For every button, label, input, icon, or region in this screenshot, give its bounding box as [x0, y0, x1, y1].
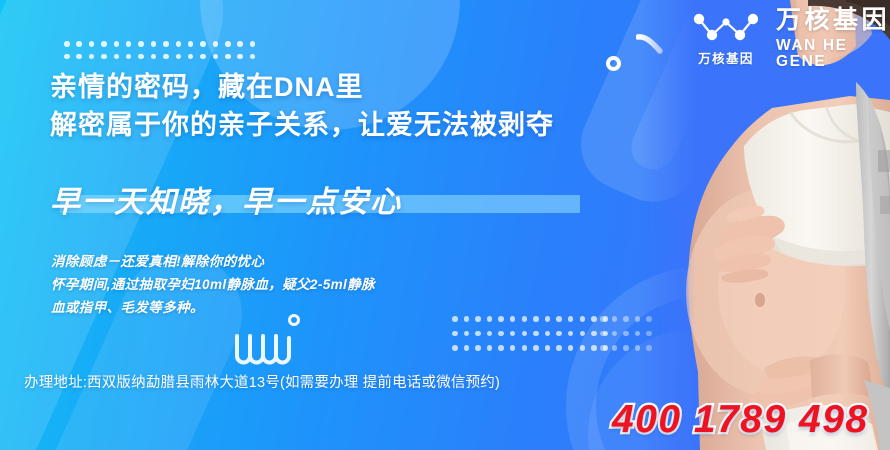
dot — [138, 41, 144, 47]
dot — [623, 316, 629, 322]
dot — [487, 331, 493, 337]
dot — [568, 331, 574, 337]
dot — [188, 41, 194, 47]
dot — [64, 41, 70, 47]
subheadline-text: 早一天知晓，早一点安心 — [50, 183, 590, 222]
dot — [556, 345, 562, 351]
dot — [533, 345, 539, 351]
body-copy: 消除顾虑－还爱真相!解除你的忧心 怀孕期间,通过抽取孕妇10ml静脉血，疑父2-… — [51, 250, 375, 320]
dot — [475, 345, 481, 351]
dot — [533, 316, 539, 322]
dot — [151, 41, 157, 47]
dot — [225, 54, 231, 60]
dot — [176, 54, 182, 60]
dot — [464, 316, 470, 322]
dot — [225, 41, 231, 47]
dot — [101, 54, 107, 60]
dot — [603, 345, 609, 351]
dot — [568, 345, 574, 351]
dot — [510, 316, 516, 322]
dot — [250, 41, 256, 47]
body-line-1: 消除顾虑－还爱真相!解除你的忧心 — [51, 250, 375, 273]
dot — [498, 345, 504, 351]
dot — [522, 331, 528, 337]
dot — [522, 345, 528, 351]
dot — [237, 41, 243, 47]
dot — [600, 316, 606, 322]
dot — [522, 316, 528, 322]
dot — [200, 54, 206, 60]
dot — [464, 331, 470, 337]
dot — [64, 54, 70, 60]
logo-name-en: WAN HE GENE — [776, 38, 890, 69]
dot — [237, 54, 243, 60]
dot — [545, 331, 551, 337]
body-line-2: 怀孕期间,通过抽取孕妇10ml静脉血，疑父2-5ml静脉 — [51, 273, 375, 296]
dot — [452, 316, 458, 322]
dot — [163, 41, 169, 47]
dot — [591, 316, 597, 322]
dot — [126, 54, 132, 60]
dot — [89, 41, 95, 47]
dot — [498, 331, 504, 337]
dot — [151, 54, 157, 60]
dot — [452, 345, 458, 351]
molecule-network-icon — [690, 11, 762, 45]
logo-wordmark: 万核基因 WAN HE GENE — [776, 8, 890, 69]
dot — [176, 41, 182, 47]
dot — [89, 54, 95, 60]
dot — [603, 316, 609, 322]
dot — [612, 316, 618, 322]
dot — [580, 345, 586, 351]
dot — [612, 331, 618, 337]
dot — [623, 345, 629, 351]
dot — [200, 41, 206, 47]
dot — [76, 41, 82, 47]
dot — [163, 54, 169, 60]
dot — [464, 345, 470, 351]
promo-banner: 万核基因 万核基因 WAN HE GENE 亲情的密码，藏在DNA里 解密属于你… — [0, 0, 890, 450]
logo-name-cn: 万核基因 — [776, 8, 890, 33]
dot — [114, 54, 120, 60]
dot — [487, 345, 493, 351]
dot — [580, 316, 586, 322]
dot — [101, 41, 107, 47]
dot — [533, 331, 539, 337]
dot — [213, 41, 219, 47]
dot — [600, 345, 606, 351]
dot — [510, 331, 516, 337]
small-ring-icon — [606, 56, 621, 71]
dot — [603, 331, 609, 337]
dot — [568, 316, 574, 322]
dot — [452, 331, 458, 337]
dot — [510, 345, 516, 351]
headline-line-1: 亲情的密码，藏在DNA里 — [50, 68, 554, 106]
dot — [487, 316, 493, 322]
dot — [250, 54, 256, 60]
dot — [138, 54, 144, 60]
dot — [188, 54, 194, 60]
dot — [591, 331, 597, 337]
dot — [475, 331, 481, 337]
dot — [580, 331, 586, 337]
logo-mark: 万核基因 — [690, 11, 762, 67]
headline: 亲情的密码，藏在DNA里 解密属于你的亲子关系，让爱无法被剥夺 — [50, 68, 554, 145]
dot — [612, 345, 618, 351]
dot-grid-icon — [64, 41, 262, 59]
dot — [126, 41, 132, 47]
dot — [556, 331, 562, 337]
headline-line-2: 解密属于你的亲子关系，让爱无法被剥夺 — [50, 106, 554, 144]
logo-mark-text: 万核基因 — [698, 48, 754, 67]
dot — [600, 331, 606, 337]
dot — [114, 41, 120, 47]
dot — [591, 345, 597, 351]
body-line-3: 血或指甲、毛发等多种。 — [51, 296, 375, 319]
dot — [475, 316, 481, 322]
dot-grid-icon — [452, 316, 614, 351]
phone-number[interactable]: 400 1789 498 — [612, 400, 869, 439]
dot — [545, 345, 551, 351]
dot — [623, 331, 629, 337]
dot — [498, 316, 504, 322]
dot — [556, 316, 562, 322]
dot — [213, 54, 219, 60]
wave-coil-icon — [232, 330, 294, 372]
brand-logo: 万核基因 万核基因 WAN HE GENE — [690, 8, 890, 69]
subheadline-block: 早一天知晓，早一点安心 — [50, 183, 590, 222]
address-text: 办理地址:西双版纳勐腊县雨林大道13号(如需要办理 提前电话或微信预约) — [24, 371, 500, 392]
dot — [545, 316, 551, 322]
dot — [76, 54, 82, 60]
